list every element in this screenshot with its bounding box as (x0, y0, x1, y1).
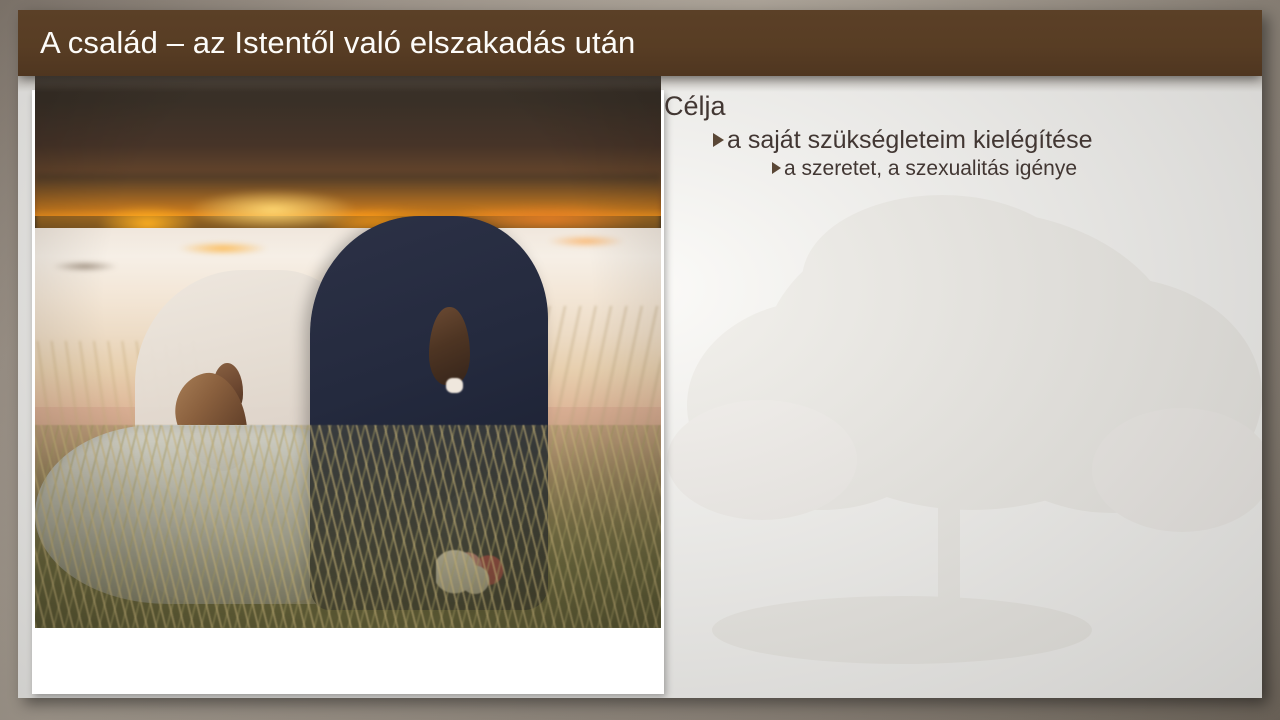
slide: A család – az Istentől való elszakadás u… (18, 10, 1262, 698)
bullet-item-2-label: a szeretet, a szexualitás igénye (784, 157, 1077, 181)
bullet-item-2: a szeretet, a szexualitás igénye (664, 157, 1248, 181)
tree-watermark (642, 160, 1262, 680)
triangle-right-bullet-icon (713, 133, 724, 147)
page-title: A család – az Istentől való elszakadás u… (40, 25, 635, 61)
photo-groom-collar (446, 378, 463, 394)
wedding-couple-sunset-lake-photo (35, 31, 661, 628)
slide-body: Célja a saját szükségleteim kielégítése … (664, 92, 1248, 180)
photo-groom-head (429, 307, 469, 386)
photo-foreground-grass (35, 425, 661, 628)
bullet-item-1: a saját szükségleteim kielégítése (664, 126, 1248, 154)
slide-title-bar: A család – az Istentől való elszakadás u… (18, 10, 1262, 76)
body-heading: Célja (664, 92, 1248, 122)
triangle-right-bullet-icon (772, 162, 781, 174)
presentation-canvas: A család – az Istentől való elszakadás u… (0, 0, 1280, 720)
bullet-item-1-label: a saját szükségleteim kielégítése (727, 126, 1092, 154)
